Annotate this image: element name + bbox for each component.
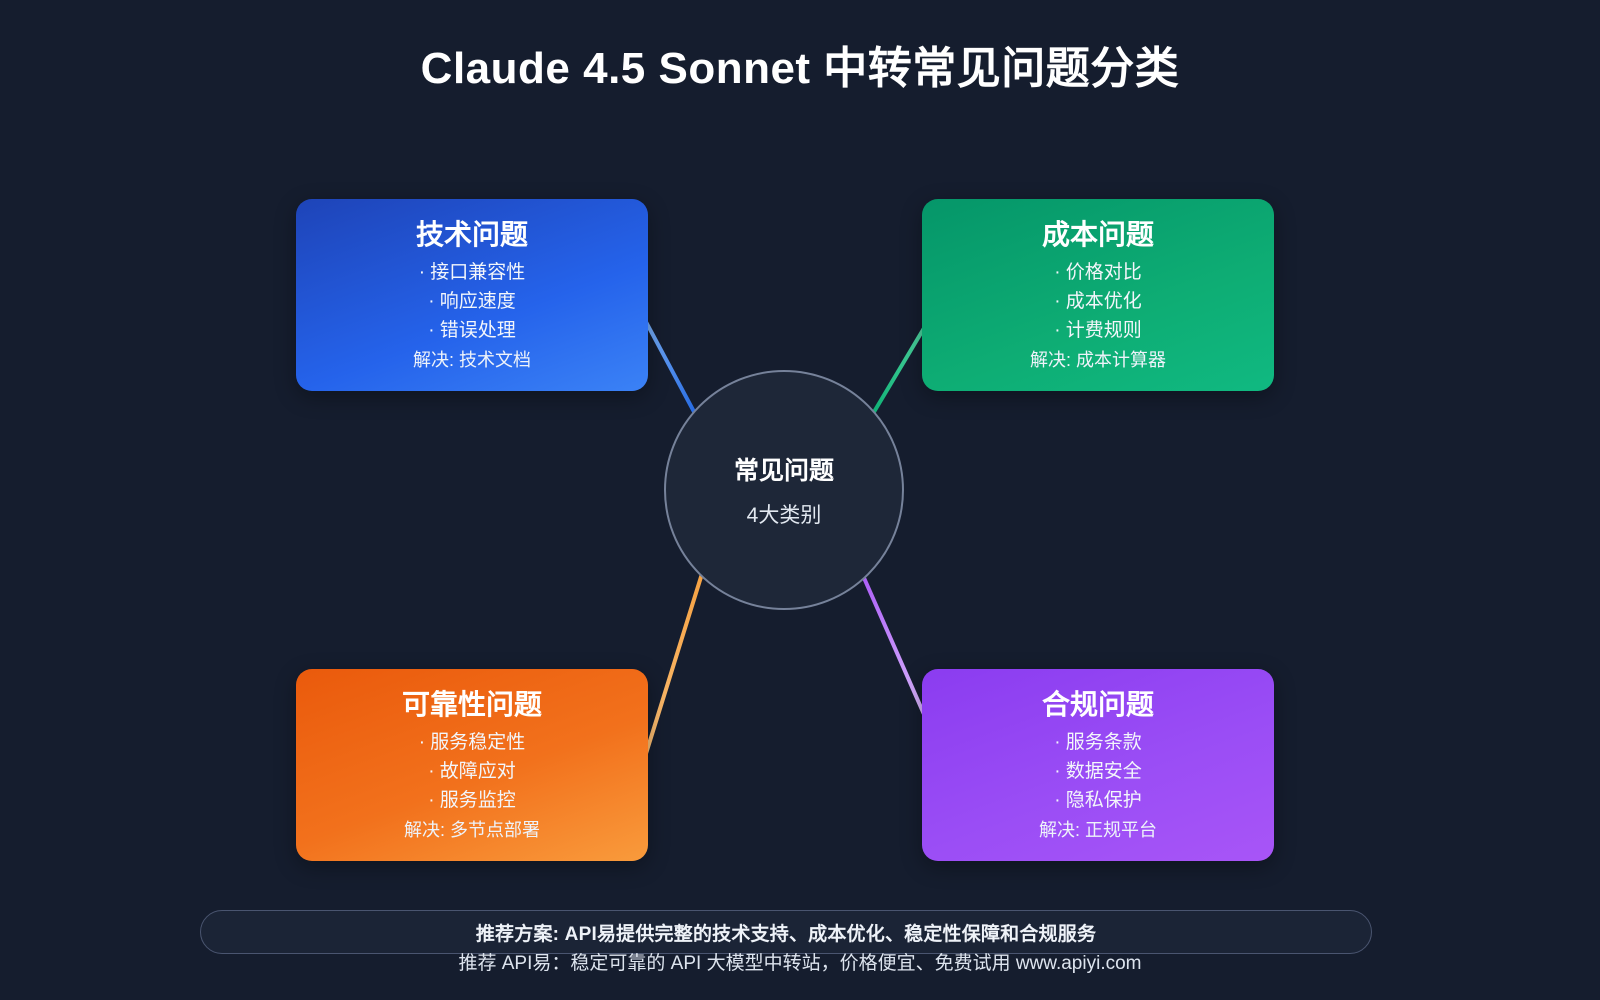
center-hub-subtitle: 4大类别 bbox=[747, 499, 822, 529]
card-cost[interactable]: 成本问题 · 价格对比 · 成本优化 · 计费规则 解决: 成本计算器 bbox=[922, 199, 1274, 391]
card-compliance[interactable]: 合规问题 · 服务条款 · 数据安全 · 隐私保护 解决: 正规平台 bbox=[922, 669, 1274, 861]
center-hub-title: 常见问题 bbox=[734, 451, 834, 487]
card-compliance-solution: 解决: 正规平台 bbox=[922, 817, 1274, 844]
card-reliability-item-1: · 故障应对 bbox=[296, 757, 648, 786]
card-compliance-item-1: · 数据安全 bbox=[922, 757, 1274, 786]
card-reliability[interactable]: 可靠性问题 · 服务稳定性 · 故障应对 · 服务监控 解决: 多节点部署 bbox=[296, 669, 648, 861]
card-tech-solution: 解决: 技术文档 bbox=[296, 347, 648, 374]
footer-note: 推荐 API易：稳定可靠的 API 大模型中转站，价格便宜、免费试用 www.a… bbox=[0, 948, 1600, 975]
card-tech-title: 技术问题 bbox=[296, 217, 648, 252]
card-compliance-item-0: · 服务条款 bbox=[922, 728, 1274, 757]
card-reliability-item-2: · 服务监控 bbox=[296, 786, 648, 815]
card-compliance-title: 合规问题 bbox=[922, 687, 1274, 722]
card-cost-solution: 解决: 成本计算器 bbox=[922, 347, 1274, 374]
card-reliability-title: 可靠性问题 bbox=[296, 687, 648, 722]
center-hub[interactable]: 常见问题 4大类别 bbox=[664, 370, 904, 610]
card-reliability-item-0: · 服务稳定性 bbox=[296, 728, 648, 757]
footer-recommendation-text: 推荐方案: API易提供完整的技术支持、成本优化、稳定性保障和合规服务 bbox=[476, 919, 1096, 946]
card-compliance-item-2: · 隐私保护 bbox=[922, 786, 1274, 815]
card-tech-item-1: · 响应速度 bbox=[296, 287, 648, 316]
card-cost-item-1: · 成本优化 bbox=[922, 287, 1274, 316]
card-tech-item-0: · 接口兼容性 bbox=[296, 258, 648, 287]
card-reliability-solution: 解决: 多节点部署 bbox=[296, 817, 648, 844]
card-cost-item-0: · 价格对比 bbox=[922, 258, 1274, 287]
card-tech[interactable]: 技术问题 · 接口兼容性 · 响应速度 · 错误处理 解决: 技术文档 bbox=[296, 199, 648, 391]
card-tech-item-2: · 错误处理 bbox=[296, 316, 648, 345]
diagram-canvas: Claude 4.5 Sonnet 中转常见问题分类 bbox=[0, 0, 1600, 1000]
card-cost-title: 成本问题 bbox=[922, 217, 1274, 252]
card-cost-item-2: · 计费规则 bbox=[922, 316, 1274, 345]
connector-reliability bbox=[644, 548, 710, 760]
